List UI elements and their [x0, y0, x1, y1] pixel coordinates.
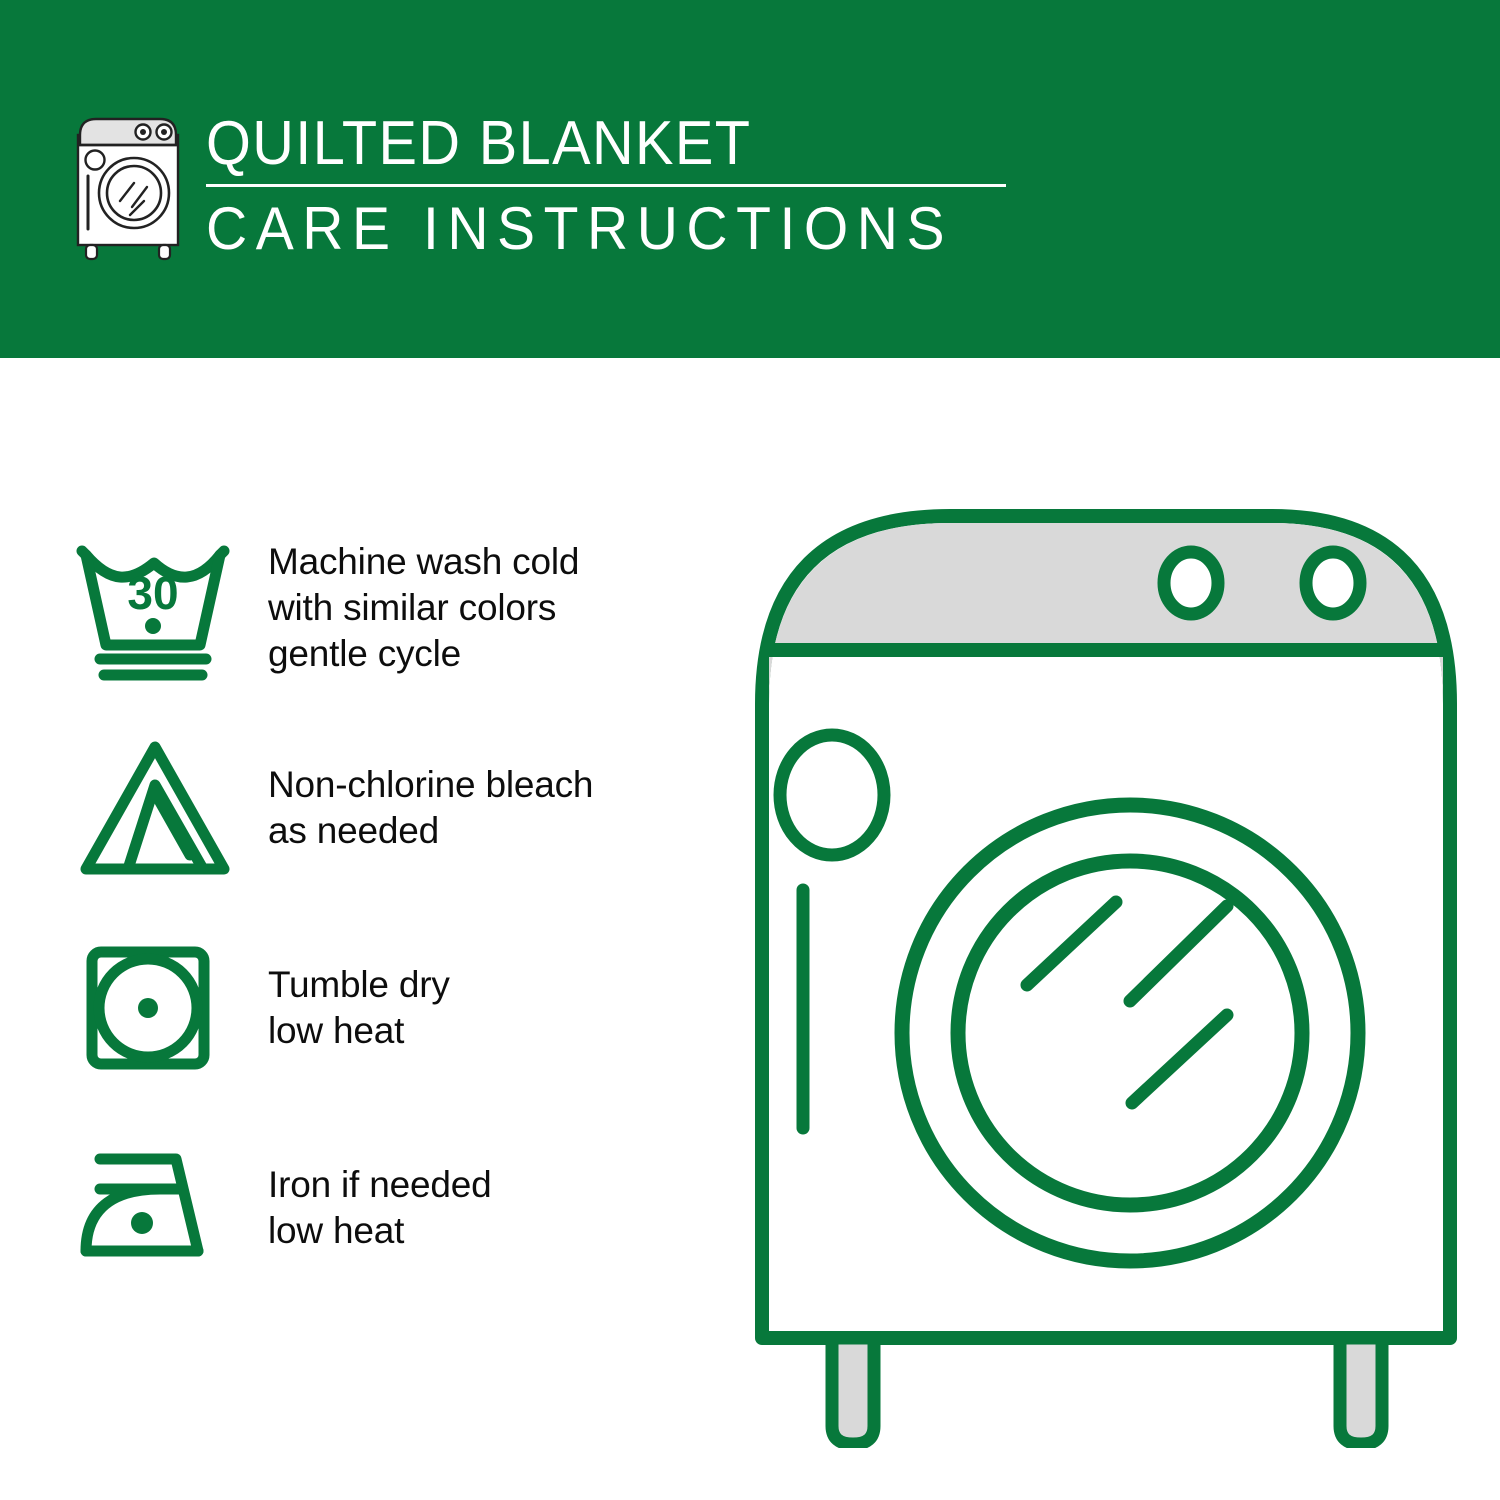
care-label-line: low heat [268, 1208, 491, 1254]
iron-low-heat-icon [70, 1143, 250, 1273]
door-inner-ring [958, 861, 1302, 1205]
bleach-triangle-stripes-icon [70, 733, 250, 883]
list-item: Tumble dry low heat [70, 908, 710, 1108]
care-label: Iron if needed low heat [250, 1162, 491, 1254]
list-item: Non-chlorine bleach as needed [70, 708, 710, 908]
care-label-line: Non-chlorine bleach [268, 762, 593, 808]
title-divider [206, 184, 1006, 187]
care-label-line: Iron if needed [268, 1162, 491, 1208]
knob [1306, 552, 1360, 614]
list-item: Iron if needed low heat [70, 1108, 710, 1308]
care-label: Non-chlorine bleach as needed [250, 762, 593, 854]
care-label-line: gentle cycle [268, 631, 579, 677]
care-label-line: Tumble dry [268, 962, 450, 1008]
dispenser-circle [780, 735, 884, 855]
care-label-line: Machine wash cold [268, 539, 579, 585]
content-area: 30 Machine wash cold with similar colors… [0, 358, 1500, 1500]
care-label: Machine wash cold with similar colors ge… [250, 539, 579, 677]
page-subtitle: CARE INSTRUCTIONS [206, 194, 966, 264]
washing-machine-icon [62, 103, 194, 263]
care-label-line: with similar colors [268, 585, 579, 631]
wash-temp-value: 30 [127, 567, 178, 619]
front-load-washing-machine-illustration [740, 498, 1460, 1448]
care-label-line: as needed [268, 808, 593, 854]
care-instruction-list: 30 Machine wash cold with similar colors… [70, 508, 710, 1308]
list-item: 30 Machine wash cold with similar colors… [70, 508, 710, 708]
tumble-dry-low-icon [70, 933, 250, 1083]
header-banner: QUILTED BLANKET CARE INSTRUCTIONS [0, 0, 1500, 358]
leg [1340, 1338, 1382, 1444]
care-label: Tumble dry low heat [250, 962, 450, 1054]
care-label-line: low heat [268, 1008, 450, 1054]
leg [832, 1338, 874, 1444]
title-block: QUILTED BLANKET CARE INSTRUCTIONS [206, 103, 1006, 264]
knob [1164, 552, 1218, 614]
page-title: QUILTED BLANKET [206, 109, 950, 179]
wash-tub-30-icon: 30 [70, 533, 250, 683]
header-content: QUILTED BLANKET CARE INSTRUCTIONS [62, 103, 1006, 264]
